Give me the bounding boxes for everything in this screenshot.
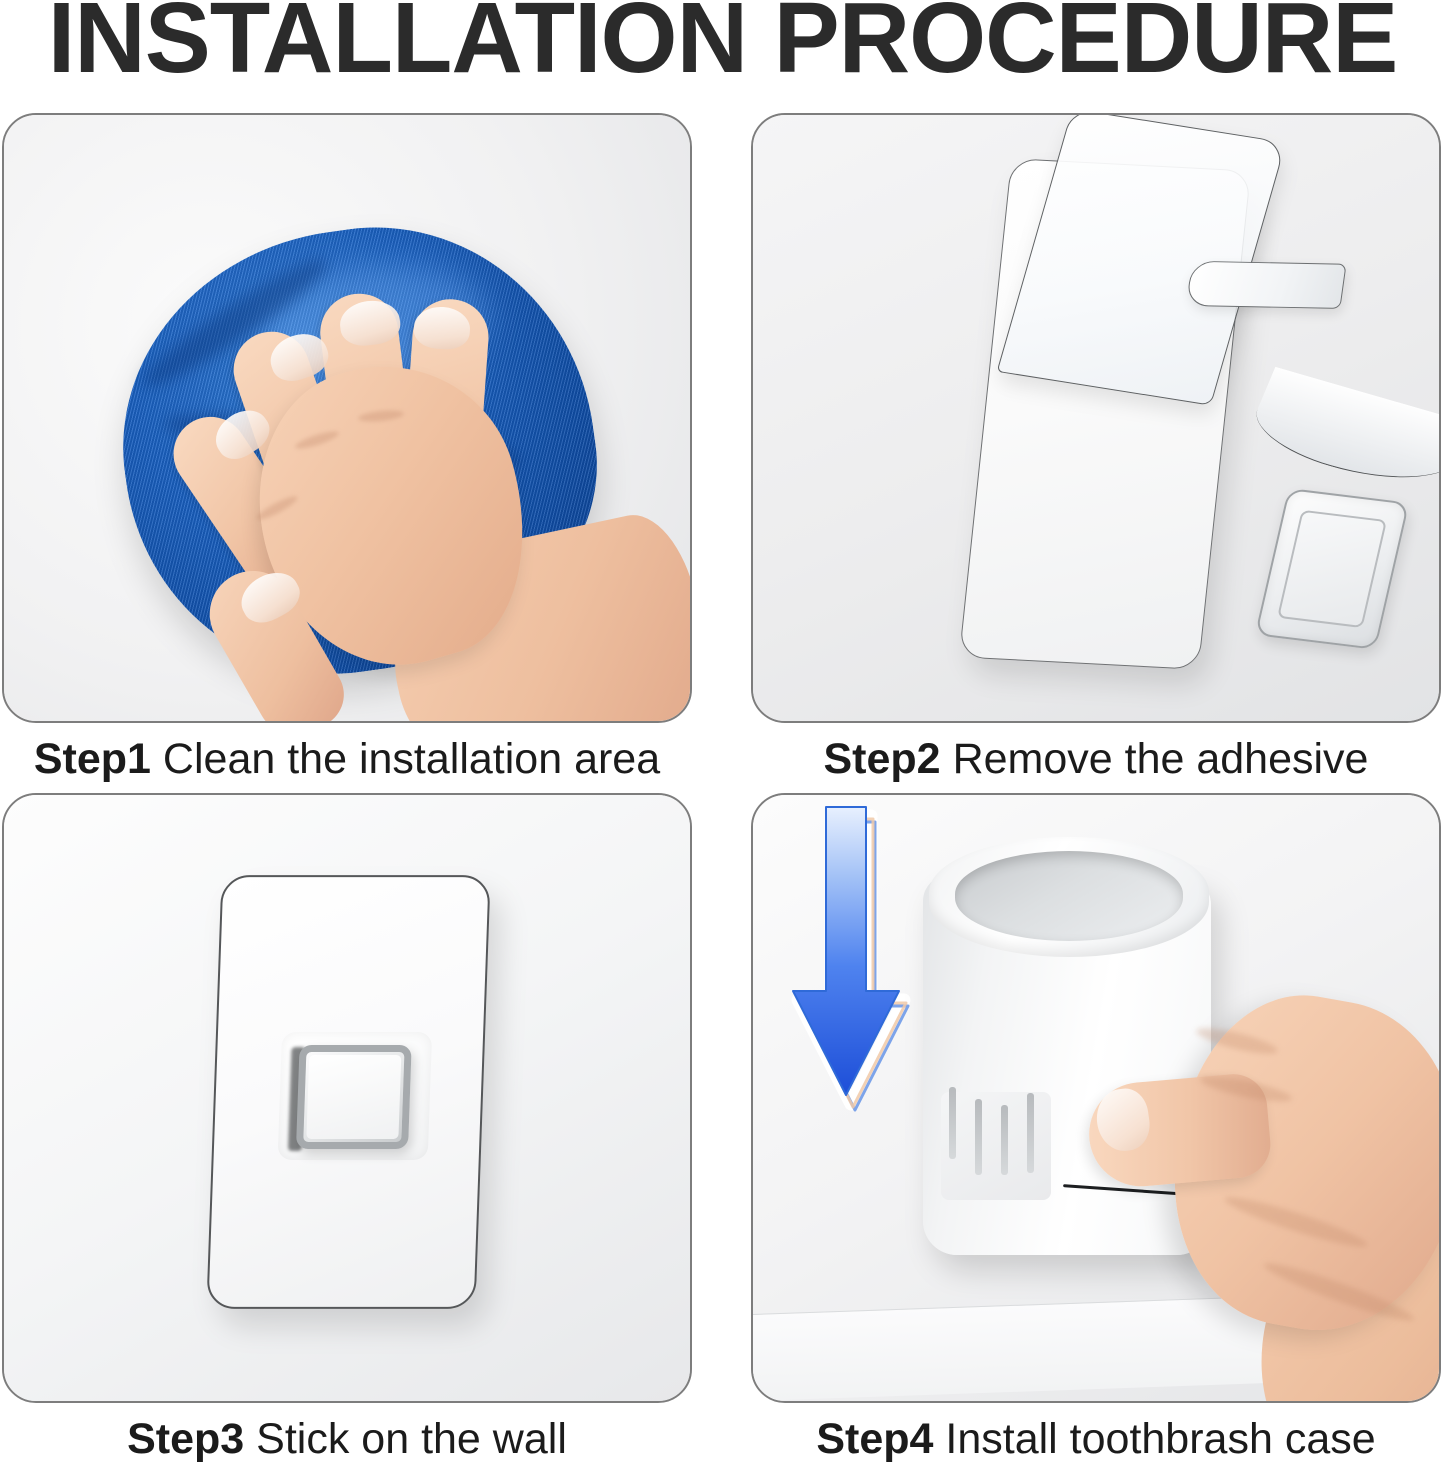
brush-slot-pin: [975, 1099, 982, 1175]
adhesive-pad-icon: [206, 875, 490, 1309]
step-card-3: Step3 Stick on the wall: [2, 793, 694, 1473]
film-pull-tab-icon: [1186, 261, 1347, 309]
brush-slot-pin: [1001, 1105, 1008, 1175]
brush-slot-pin: [949, 1087, 956, 1159]
step-1-text: Clean the installation area: [163, 735, 660, 783]
step-card-2: Step2 Remove the adhesive: [751, 113, 1443, 793]
step-card-4: Step4 Install toothbrash case: [751, 793, 1443, 1473]
step-2-number: Step2: [824, 735, 941, 783]
step-4-number: Step4: [816, 1415, 933, 1463]
step-1-image-panel: [2, 113, 692, 723]
step-1-number: Step1: [34, 735, 151, 783]
hand-icon: [1071, 913, 1441, 1403]
step-4-caption: Step4 Install toothbrash case: [751, 1413, 1441, 1465]
mounting-bracket-icon: [296, 1045, 412, 1149]
step-2-image-panel: [751, 113, 1441, 723]
step-2-caption: Step2 Remove the adhesive: [751, 733, 1441, 785]
page-title: INSTALLATION PROCEDURE: [7, 0, 1438, 88]
steps-grid: Step1 Clean the installation area Step2 …: [0, 105, 1445, 1465]
step-1-caption: Step1 Clean the installation area: [2, 733, 692, 785]
step-3-number: Step3: [127, 1415, 244, 1463]
hand-icon: [144, 235, 664, 723]
down-arrow-icon: [771, 803, 921, 1138]
step-card-1: Step1 Clean the installation area: [2, 113, 694, 793]
brush-slot-pin: [1027, 1093, 1034, 1173]
step-3-image-panel: [2, 793, 692, 1403]
step-2-text: Remove the adhesive: [953, 735, 1369, 783]
brush-slot-panel: [941, 1092, 1051, 1200]
step-4-image-panel: [751, 793, 1441, 1403]
step-3-text: Stick on the wall: [256, 1415, 567, 1463]
step-4-text: Install toothbrash case: [945, 1415, 1375, 1463]
step-3-caption: Step3 Stick on the wall: [2, 1413, 692, 1465]
